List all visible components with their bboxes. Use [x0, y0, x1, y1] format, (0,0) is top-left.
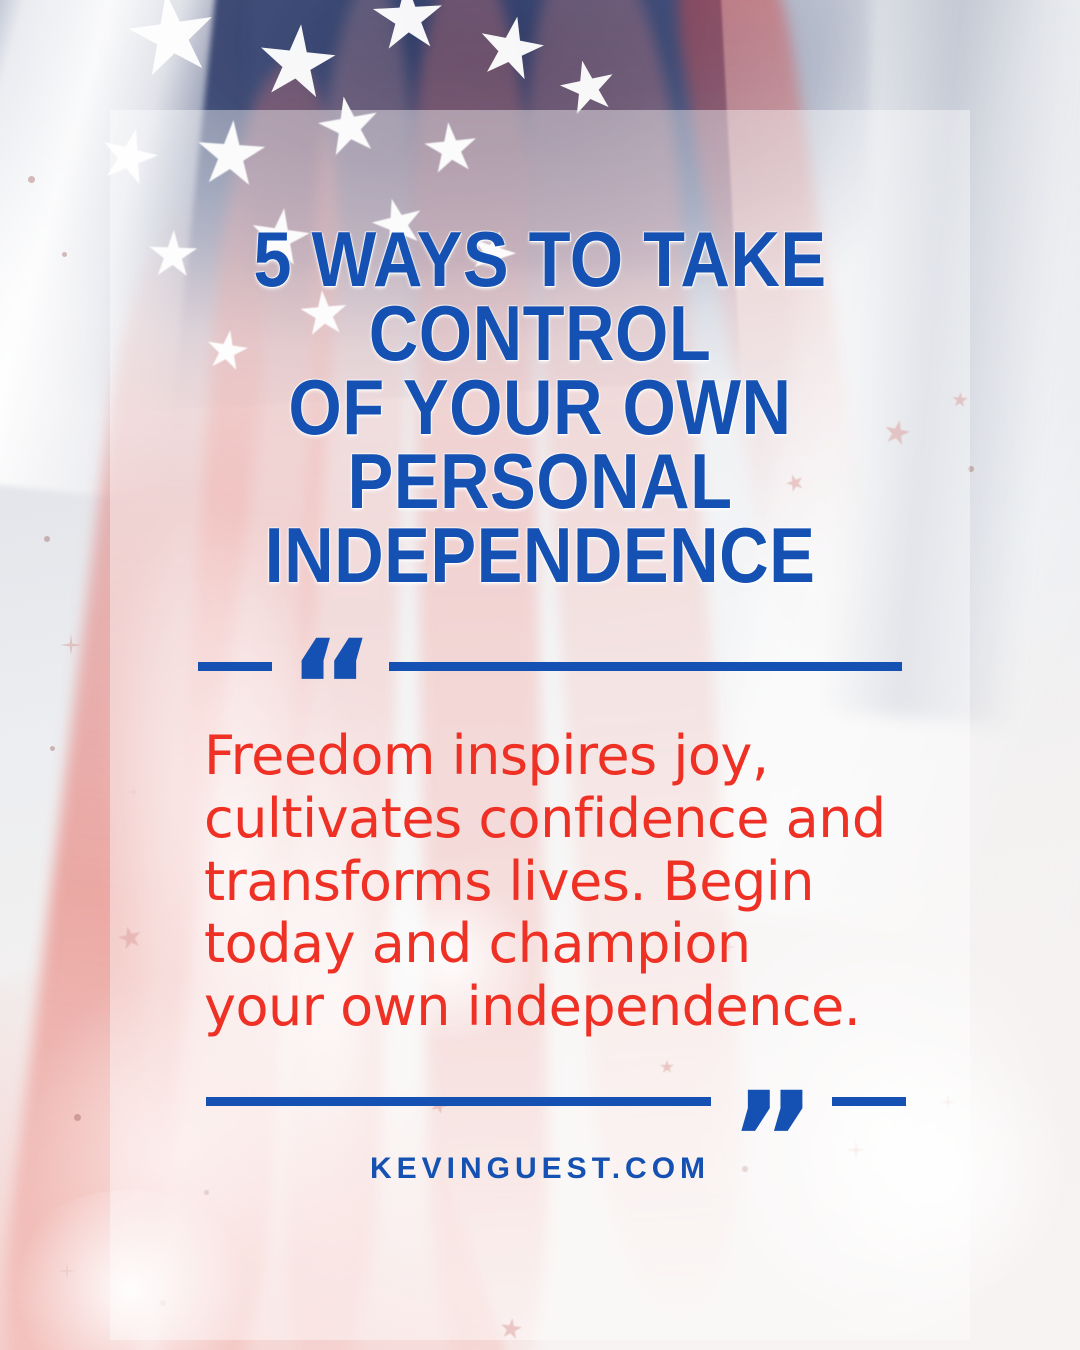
speck [74, 1114, 81, 1121]
divider-dash-right [832, 1097, 906, 1106]
page-title-line-1: 5 WAYS TO TAKE CONTROL [193, 222, 886, 370]
page-title-line-2: OF YOUR OWN PERSONAL [193, 370, 886, 518]
poster-content: 5 WAYS TO TAKE CONTROL OF YOUR OWN PERSO… [110, 110, 970, 1340]
speck [28, 176, 35, 183]
divider-line-left [206, 1097, 711, 1106]
website-url[interactable]: KEVINGUEST.COM [146, 1152, 934, 1186]
speck [44, 536, 50, 542]
page-title: 5 WAYS TO TAKE CONTROL OF YOUR OWN PERSO… [193, 222, 886, 592]
quote-divider-bottom: ” [146, 1097, 934, 1106]
speck [62, 252, 67, 257]
quote-text: Freedom inspires joy, cultivates confide… [146, 725, 934, 1038]
quote-divider-top: “ [146, 662, 934, 671]
poster-canvas: 5 WAYS TO TAKE CONTROL OF YOUR OWN PERSO… [0, 0, 1080, 1350]
divider-dash-left [198, 662, 272, 671]
page-title-line-3: INDEPENDENCE [193, 518, 886, 592]
speck [50, 746, 55, 751]
divider-line-right [389, 662, 902, 671]
